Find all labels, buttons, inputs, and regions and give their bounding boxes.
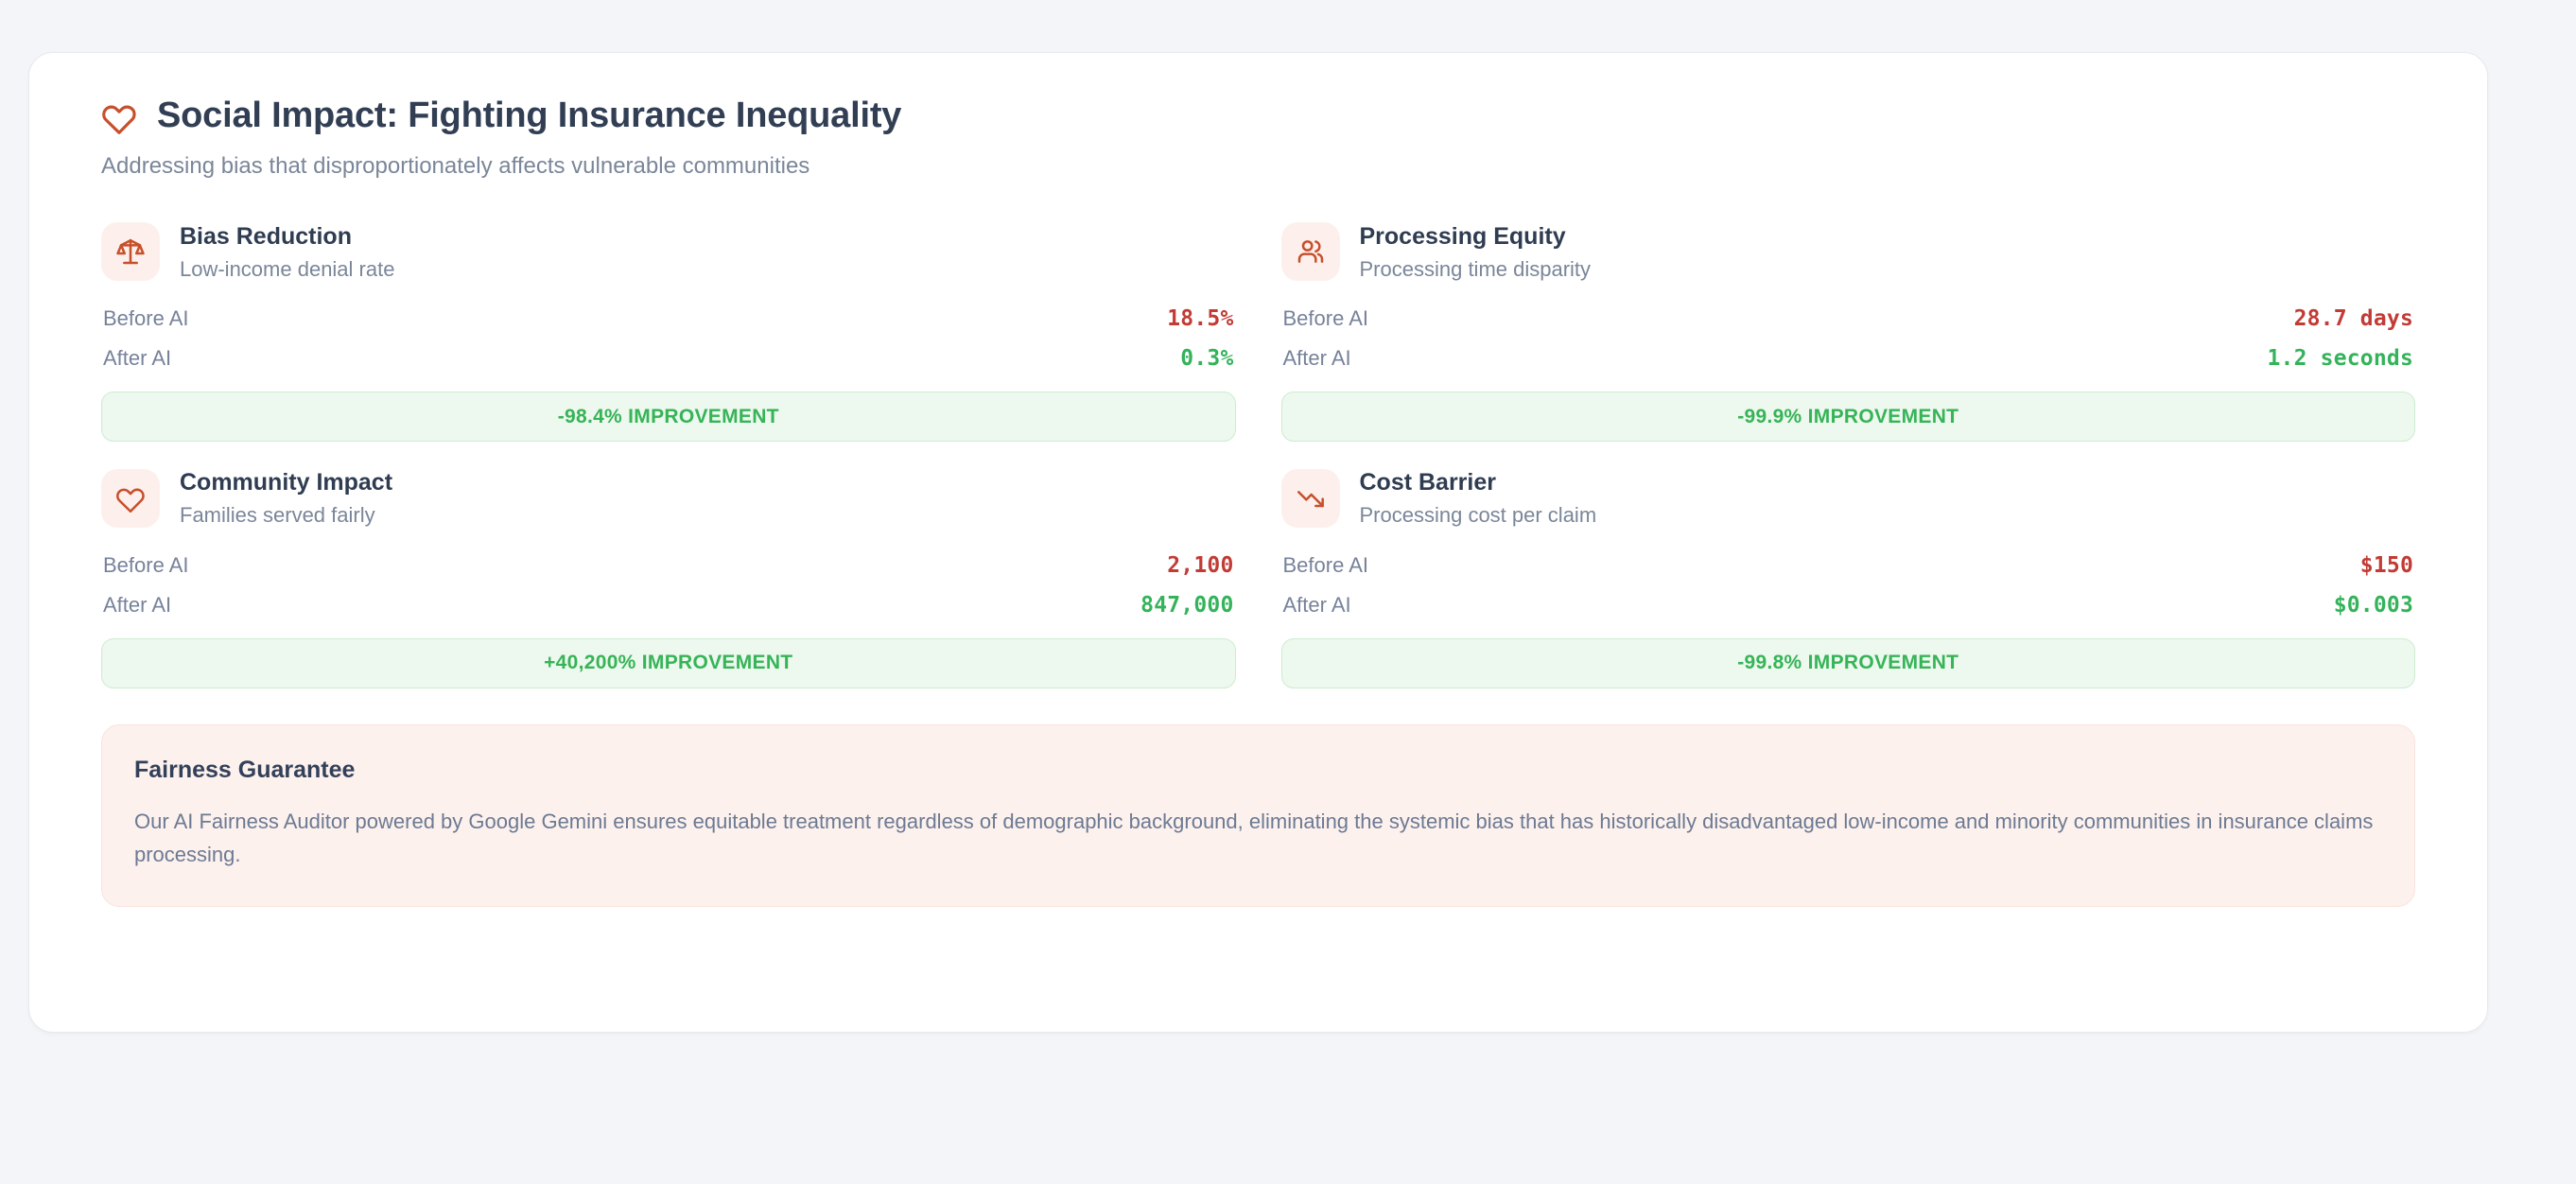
panel-header: Social Impact: Fighting Insurance Inequa…: [78, 96, 2438, 181]
metric-sublabel: Families served fairly: [180, 503, 392, 528]
improvement-label: -99.9% IMPROVEMENT: [1737, 406, 1958, 428]
before-value: $150: [2360, 553, 2413, 578]
before-value: 28.7 days: [2294, 306, 2413, 331]
metric-label: Bias Reduction: [180, 222, 394, 251]
before-label: Before AI: [103, 306, 189, 331]
metric-row-before: Before AI 28.7 days: [1281, 299, 2416, 339]
page-subtitle: Addressing bias that disproportionately …: [101, 151, 2438, 181]
improvement-label: +40,200% IMPROVEMENT: [544, 652, 792, 674]
scales-icon: [115, 236, 146, 267]
guarantee-title: Fairness Guarantee: [134, 756, 2382, 784]
improvement-badge: -98.4% IMPROVEMENT: [101, 392, 1236, 442]
title-row: Social Impact: Fighting Insurance Inequa…: [101, 96, 2438, 136]
metric-title-block: Cost Barrier Processing cost per claim: [1360, 468, 1597, 528]
trending-down-icon: [1296, 483, 1326, 514]
metric-rows: Before AI 28.7 days After AI 1.2 seconds: [1281, 299, 2416, 378]
before-label: Before AI: [1283, 553, 1369, 578]
social-impact-panel: Social Impact: Fighting Insurance Inequa…: [28, 52, 2488, 1033]
metric-card-bias-reduction: Bias Reduction Low-income denial rate Be…: [101, 222, 1236, 442]
metric-rows: Before AI 2,100 After AI 847,000: [101, 546, 1236, 625]
before-label: Before AI: [103, 553, 189, 578]
metric-header: Community Impact Families served fairly: [101, 468, 1236, 528]
metric-title-block: Bias Reduction Low-income denial rate: [180, 222, 394, 282]
metric-header: Processing Equity Processing time dispar…: [1281, 222, 2416, 282]
after-value: 1.2 seconds: [2267, 346, 2413, 371]
metric-sublabel: Processing time disparity: [1360, 257, 1592, 282]
metric-row-after: After AI 0.3%: [101, 339, 1236, 378]
improvement-badge: -99.9% IMPROVEMENT: [1281, 392, 2416, 442]
metric-header: Cost Barrier Processing cost per claim: [1281, 468, 2416, 528]
after-label: After AI: [103, 593, 171, 618]
metric-icon-tile: [1281, 469, 1340, 528]
metric-label: Community Impact: [180, 468, 392, 496]
users-icon: [1296, 236, 1326, 267]
metric-row-before: Before AI 2,100: [101, 546, 1236, 585]
metric-row-before: Before AI 18.5%: [101, 299, 1236, 339]
heart-icon: [101, 99, 137, 135]
metric-icon-tile: [101, 469, 160, 528]
after-value: $0.003: [2334, 593, 2413, 618]
before-label: Before AI: [1283, 306, 1369, 331]
before-value: 2,100: [1167, 553, 1233, 578]
metric-sublabel: Processing cost per claim: [1360, 503, 1597, 528]
improvement-badge: -99.8% IMPROVEMENT: [1281, 638, 2416, 688]
metric-icon-tile: [1281, 222, 1340, 281]
metric-sublabel: Low-income denial rate: [180, 257, 394, 282]
metric-row-after: After AI $0.003: [1281, 585, 2416, 625]
metric-card-processing-equity: Processing Equity Processing time dispar…: [1281, 222, 2416, 442]
improvement-badge: +40,200% IMPROVEMENT: [101, 638, 1236, 688]
metrics-grid: Bias Reduction Low-income denial rate Be…: [78, 222, 2438, 688]
metric-label: Cost Barrier: [1360, 468, 1597, 496]
metric-label: Processing Equity: [1360, 222, 1592, 251]
guarantee-text: Our AI Fairness Auditor powered by Googl…: [134, 805, 2382, 872]
after-value: 0.3%: [1180, 346, 1233, 371]
after-label: After AI: [103, 346, 171, 371]
metric-rows: Before AI $150 After AI $0.003: [1281, 546, 2416, 625]
page-title: Social Impact: Fighting Insurance Inequa…: [157, 96, 901, 136]
after-value: 847,000: [1140, 593, 1233, 618]
page-root: Social Impact: Fighting Insurance Inequa…: [0, 0, 2576, 1184]
metric-card-community-impact: Community Impact Families served fairly …: [101, 468, 1236, 688]
metric-row-after: After AI 847,000: [101, 585, 1236, 625]
heart-icon: [115, 483, 146, 514]
metric-title-block: Community Impact Families served fairly: [180, 468, 392, 528]
after-label: After AI: [1283, 593, 1351, 618]
metric-row-before: Before AI $150: [1281, 546, 2416, 585]
metric-row-after: After AI 1.2 seconds: [1281, 339, 2416, 378]
metric-rows: Before AI 18.5% After AI 0.3%: [101, 299, 1236, 378]
before-value: 18.5%: [1167, 306, 1233, 331]
after-label: After AI: [1283, 346, 1351, 371]
improvement-label: -99.8% IMPROVEMENT: [1737, 652, 1958, 674]
fairness-guarantee-box: Fairness Guarantee Our AI Fairness Audit…: [101, 724, 2415, 907]
metric-header: Bias Reduction Low-income denial rate: [101, 222, 1236, 282]
metric-title-block: Processing Equity Processing time dispar…: [1360, 222, 1592, 282]
metric-icon-tile: [101, 222, 160, 281]
improvement-label: -98.4% IMPROVEMENT: [558, 406, 779, 428]
metric-card-cost-barrier: Cost Barrier Processing cost per claim B…: [1281, 468, 2416, 688]
